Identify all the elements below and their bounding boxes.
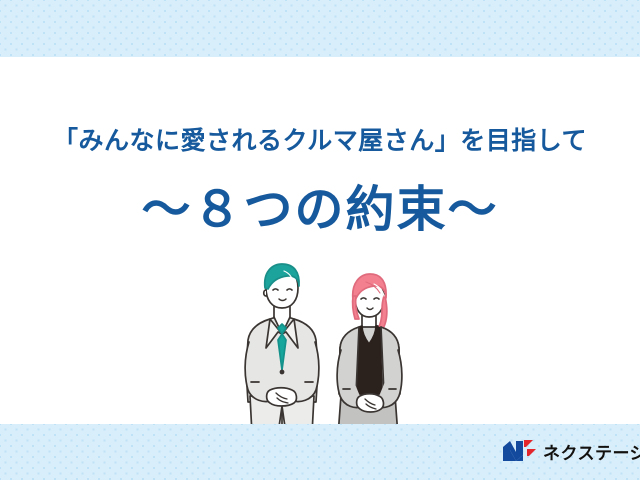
female-staff-figure bbox=[337, 274, 402, 436]
brand-logo: ネクステージ bbox=[503, 440, 640, 467]
page-subtitle: 「みんなに愛されるクルマ屋さん」を目指して bbox=[0, 126, 640, 156]
top-decorative-band bbox=[0, 0, 640, 57]
brand-wordmark: ネクステージ bbox=[543, 445, 640, 462]
promo-slide: 「みんなに愛されるクルマ屋さん」を目指して ～８つの約束～ bbox=[0, 0, 640, 480]
nextage-n-logo-icon bbox=[503, 440, 537, 467]
page-title: ～８つの約束～ bbox=[0, 182, 640, 238]
two-bowing-staff-illustration bbox=[232, 262, 412, 437]
male-staff-figure bbox=[245, 264, 319, 434]
